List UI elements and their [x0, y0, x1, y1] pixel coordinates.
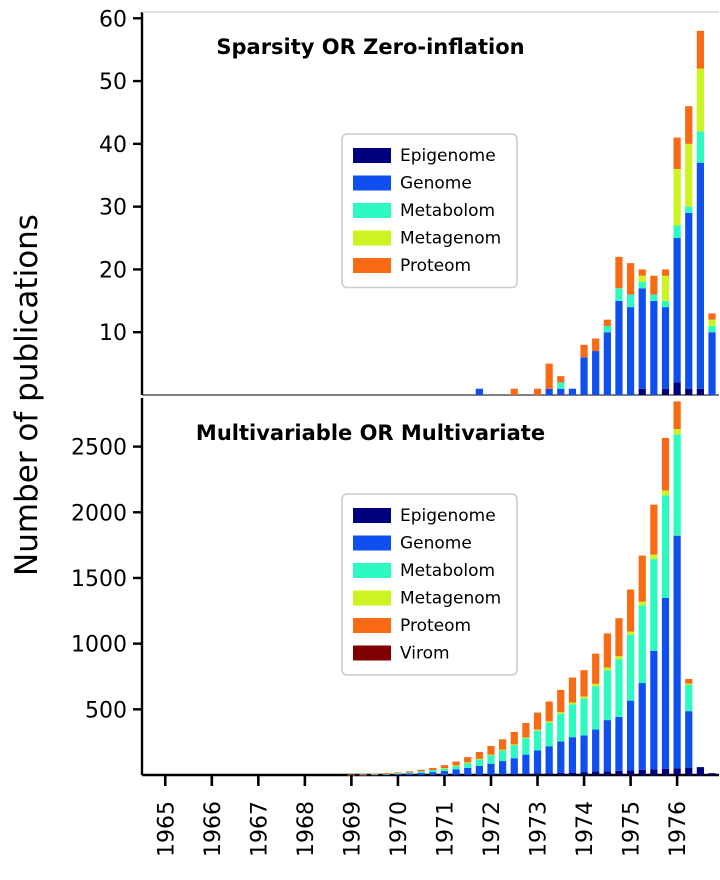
- bar-segment: [580, 772, 587, 775]
- bar-segment: [499, 774, 506, 775]
- bar-segment: [697, 69, 704, 132]
- bar-segment: [546, 389, 553, 395]
- bar-segment: [662, 269, 669, 275]
- bar-segment: [639, 389, 646, 395]
- bar-segment: [639, 556, 646, 602]
- bar-segment: [685, 213, 692, 389]
- bar-segment: [615, 717, 622, 771]
- bar-segment: [580, 696, 587, 698]
- legend-label-metabolom: Metabolom: [400, 201, 495, 221]
- bar-segment: [627, 770, 634, 775]
- bar-segment: [592, 730, 599, 772]
- bar-segment: [708, 773, 715, 775]
- bar-segment: [615, 257, 622, 288]
- bar-segment: [592, 772, 599, 775]
- legend-label-metagenom: Metagenom: [400, 589, 501, 609]
- bar-segment: [452, 761, 459, 765]
- bar-segment: [592, 684, 599, 686]
- bar-segment: [627, 635, 634, 701]
- bar-segment: [639, 276, 646, 282]
- legend-swatch-genome: [353, 176, 391, 191]
- bar-segment: [650, 505, 657, 555]
- x-tick-label: 1973: [527, 801, 552, 857]
- bar-segment: [685, 389, 692, 395]
- x-tick-label: 1965: [154, 801, 179, 857]
- bar-segment: [615, 771, 622, 775]
- legend-label-metabolom: Metabolom: [400, 561, 495, 581]
- bar-segment: [615, 656, 622, 659]
- bar-segment: [650, 651, 657, 769]
- x-tick-label: 1975: [620, 801, 645, 857]
- bar-segment: [615, 288, 622, 301]
- bar-segment: [674, 768, 681, 775]
- bar-segment: [569, 737, 576, 772]
- bar-segment: [487, 746, 494, 755]
- bar-segment: [557, 382, 564, 388]
- bar-segment: [674, 435, 681, 536]
- bar-segment: [476, 766, 483, 775]
- bar-segment: [627, 307, 634, 395]
- bar-segment: [685, 684, 692, 685]
- bar-segment: [557, 712, 564, 714]
- bar-segment: [557, 389, 564, 395]
- bar-segment: [639, 269, 646, 275]
- legend-swatch-proteom: [353, 618, 391, 633]
- bar-segment: [662, 769, 669, 775]
- bar-segment: [697, 131, 704, 162]
- bar-segment: [615, 301, 622, 395]
- bar-segment: [569, 773, 576, 775]
- bar-segment: [604, 320, 611, 326]
- bar-segment: [487, 755, 494, 756]
- x-tick-label: 1970: [387, 801, 412, 857]
- bar-segment: [662, 490, 669, 495]
- bar-segment: [429, 772, 436, 775]
- bar-segment: [487, 755, 494, 764]
- bar-segment: [394, 773, 401, 774]
- bar-segment: [557, 773, 564, 775]
- bar-segment: [662, 495, 669, 597]
- bar-segment: [511, 389, 518, 395]
- legend-label-proteom: Proteom: [400, 616, 471, 636]
- bar-segment: [639, 683, 646, 770]
- bar-segment: [546, 702, 553, 722]
- panel-bottom: 5001000150020002500Multivariable OR Mult…: [71, 398, 719, 857]
- bar-segment: [534, 773, 541, 775]
- bar-segment: [592, 686, 599, 729]
- legend-swatch-virom: [353, 646, 391, 661]
- bar-segment: [546, 721, 553, 722]
- bar-segment: [534, 730, 541, 731]
- bar-segment: [534, 731, 541, 751]
- bar-segment: [371, 774, 378, 775]
- bar-segment: [499, 750, 506, 751]
- bar-segment: [697, 31, 704, 69]
- y-tick-label: 10: [99, 321, 127, 346]
- bar-segment: [464, 757, 471, 762]
- legend-label-epigenome: Epigenome: [400, 146, 496, 166]
- bar-segment: [697, 389, 704, 395]
- bar-segment: [627, 701, 634, 771]
- bar-segment: [534, 750, 541, 773]
- x-tick-label: 1976: [666, 801, 691, 857]
- legend-swatch-proteom: [353, 258, 391, 273]
- bar-segment: [580, 345, 587, 358]
- bar-segment: [592, 654, 599, 684]
- x-tick-label: 1966: [201, 801, 226, 857]
- bar-segment: [580, 735, 587, 772]
- bar-segment: [662, 307, 669, 389]
- bar-segment: [452, 769, 459, 774]
- legend-label-genome: Genome: [400, 534, 472, 554]
- bar-segment: [464, 763, 471, 768]
- bar-segment: [546, 723, 553, 747]
- legend-label-epigenome: Epigenome: [400, 506, 496, 526]
- y-tick-label: 500: [85, 698, 127, 723]
- bar-segment: [522, 737, 529, 738]
- bar-segment: [604, 668, 611, 671]
- bar-segment: [685, 768, 692, 775]
- bar-segment: [546, 364, 553, 389]
- legend: EpigenomeGenomeMetabolomMetagenomProteom…: [342, 494, 517, 675]
- x-tick-label: 1974: [573, 801, 598, 857]
- bar-segment: [511, 774, 518, 775]
- bar-segment: [429, 770, 436, 772]
- bar-segment: [604, 326, 611, 332]
- bar-segment: [650, 769, 657, 775]
- bar-segment: [441, 771, 448, 775]
- bar-segment: [394, 774, 401, 775]
- bar-segment: [662, 598, 669, 769]
- y-tick-label: 20: [99, 258, 127, 283]
- bar-segment: [569, 389, 576, 395]
- bar-segment: [708, 332, 715, 395]
- bar-segment: [650, 295, 657, 301]
- x-tick-label: 1972: [480, 801, 505, 857]
- bar-segment: [604, 670, 611, 720]
- bar-segment: [476, 389, 483, 395]
- bar-segment: [418, 771, 425, 773]
- bar-segment: [639, 606, 646, 684]
- legend-label-genome: Genome: [400, 174, 472, 194]
- bar-segment: [418, 773, 425, 775]
- bar-segment: [394, 772, 401, 773]
- bar-segment: [569, 702, 576, 704]
- legend-swatch-metagenom: [353, 591, 391, 606]
- bar-segment: [604, 720, 611, 771]
- bar-segment: [674, 225, 681, 238]
- bar-segment: [383, 773, 390, 774]
- bar-segment: [406, 771, 413, 772]
- bar-segment: [662, 438, 669, 491]
- figure-canvas: Number of publications 102030405060Spars…: [0, 0, 720, 880]
- bar-segment: [441, 765, 448, 768]
- bar-segment: [685, 679, 692, 684]
- bar-segment: [685, 711, 692, 767]
- legend-label-metagenom: Metagenom: [400, 229, 501, 249]
- bar-segment: [674, 169, 681, 226]
- bar-segment: [569, 678, 576, 703]
- bar-segment: [487, 764, 494, 775]
- bar-segment: [452, 775, 459, 776]
- legend-swatch-epigenome: [353, 148, 391, 163]
- bar-segment: [406, 773, 413, 775]
- bar-segment: [615, 618, 622, 656]
- y-tick-label: 60: [99, 7, 127, 32]
- bar-segment: [627, 632, 634, 635]
- bar-segment: [650, 555, 657, 559]
- bar-segment: [511, 744, 518, 745]
- bar-segment: [418, 770, 425, 772]
- bar-segment: [464, 768, 471, 775]
- bar-segment: [406, 772, 413, 773]
- bar-segment: [685, 207, 692, 213]
- bar-segment: [639, 282, 646, 288]
- bar-segment: [615, 659, 622, 717]
- y-tick-label: 2000: [71, 501, 127, 526]
- bar-segment: [522, 774, 529, 775]
- bar-segment: [604, 771, 611, 775]
- bar-segment: [476, 752, 483, 759]
- bar-segment: [674, 382, 681, 395]
- bar-segment: [662, 276, 669, 301]
- bar-segment: [639, 602, 646, 606]
- y-tick-label: 1500: [71, 567, 127, 592]
- bar-segment: [708, 326, 715, 332]
- x-tick-label: 1969: [340, 801, 365, 857]
- bar-segment: [546, 746, 553, 773]
- bar-segment: [476, 775, 483, 776]
- bar-segment: [650, 301, 657, 395]
- bar-segment: [685, 106, 692, 144]
- bar-segment: [674, 238, 681, 382]
- legend-swatch-genome: [353, 536, 391, 551]
- bar-segment: [522, 755, 529, 774]
- bar-segment: [650, 276, 657, 295]
- bar-segment: [627, 295, 634, 308]
- bar-segment: [650, 559, 657, 651]
- legend-label-virom: Virom: [400, 644, 450, 664]
- panel-title: Multivariable OR Multivariate: [196, 421, 545, 445]
- bar-segment: [452, 765, 459, 766]
- bar-segment: [662, 389, 669, 395]
- bar-segment: [627, 590, 634, 632]
- bar-segment: [557, 690, 564, 712]
- bar-segment: [639, 770, 646, 775]
- bar-segment: [522, 723, 529, 737]
- bar-segment: [534, 389, 541, 395]
- bar-segment: [592, 338, 599, 351]
- bar-segment: [534, 713, 541, 730]
- bar-segment: [464, 775, 471, 776]
- bar-segment: [499, 761, 506, 774]
- legend-swatch-metabolom: [353, 203, 391, 218]
- x-tick-label: 1967: [247, 801, 272, 857]
- bar-segment: [627, 263, 634, 294]
- bar-segment: [697, 163, 704, 389]
- legend-swatch-metagenom: [353, 231, 391, 246]
- y-tick-label: 40: [99, 133, 127, 158]
- bar-segment: [697, 767, 704, 775]
- bar-segment: [546, 773, 553, 775]
- bar-segment: [557, 376, 564, 382]
- legend-swatch-epigenome: [353, 508, 391, 523]
- panel-title: Sparsity OR Zero-inflation: [216, 35, 524, 59]
- bar-segment: [511, 745, 518, 758]
- bar-segment: [464, 762, 471, 763]
- bar-segment: [662, 301, 669, 307]
- y-tick-label: 50: [99, 70, 127, 95]
- bar-segment: [580, 357, 587, 395]
- bar-segment: [674, 536, 681, 769]
- y-tick-label: 30: [99, 196, 127, 221]
- bar-segment: [511, 758, 518, 774]
- bar-segment: [708, 320, 715, 326]
- bar-segment: [580, 670, 587, 696]
- bar-segment: [476, 759, 483, 766]
- bar-segment: [604, 633, 611, 667]
- bar-segment: [569, 704, 576, 737]
- x-tick-label: 1968: [294, 801, 319, 857]
- bar-segment: [580, 699, 587, 736]
- y-tick-label: 2500: [71, 436, 127, 461]
- bar-segment: [557, 714, 564, 742]
- bar-segment: [522, 738, 529, 754]
- bar-segment: [674, 429, 681, 435]
- bar-segment: [499, 750, 506, 761]
- bar-segment: [592, 351, 599, 395]
- bar-segment: [685, 144, 692, 207]
- legend: EpigenomeGenomeMetabolomMetagenomProteom: [342, 134, 517, 288]
- bar-segment: [557, 741, 564, 773]
- legend-swatch-metabolom: [353, 563, 391, 578]
- panel-top: 102030405060Sparsity OR Zero-inflationEp…: [99, 7, 719, 395]
- bar-segment: [441, 768, 448, 769]
- bar-segment: [604, 332, 611, 395]
- bar-segment: [499, 739, 506, 750]
- bar-segment: [476, 759, 483, 760]
- bar-segment: [511, 732, 518, 744]
- legend-label-proteom: Proteom: [400, 256, 471, 276]
- bar-segment: [359, 774, 366, 775]
- bar-segment: [429, 768, 436, 770]
- y-tick-label: 1000: [71, 633, 127, 658]
- x-tick-label: 1971: [433, 801, 458, 857]
- bar-segment: [674, 138, 681, 169]
- chart-svg: 102030405060Sparsity OR Zero-inflationEp…: [0, 0, 720, 880]
- bar-segment: [639, 288, 646, 388]
- bar-segment: [674, 401, 681, 429]
- bar-segment: [685, 685, 692, 711]
- bar-segment: [708, 313, 715, 319]
